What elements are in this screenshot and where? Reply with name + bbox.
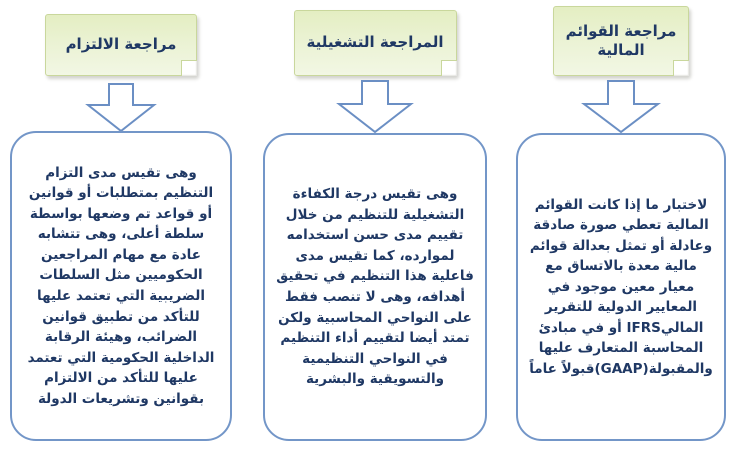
- standard-gaap-label: (GAAP): [594, 361, 648, 377]
- down-arrow-icon: [85, 83, 157, 133]
- arrow-wrap-operational: [257, 80, 493, 134]
- header-note-label-operational: المراجعة التشغيلية: [307, 33, 444, 52]
- standard-ifrs-label: IFRS: [626, 320, 660, 336]
- header-note-label-financial: مراجعة القوائم المالية: [564, 22, 678, 60]
- folded-corner-icon: [673, 60, 689, 76]
- header-note-financial[interactable]: مراجعة القوائم المالية: [553, 6, 689, 76]
- arrow-wrap-compliance: [2, 83, 240, 133]
- arrow-wrap-financial: [510, 80, 732, 134]
- body-box-operational: وهى تقيس درجة الكفاءة التشغيلية للتنظيم …: [263, 133, 487, 441]
- header-note-wrap-compliance: مراجعة الالتزام: [2, 14, 240, 76]
- column-compliance-audit: مراجعة الالتزام وهى تقيس مدى التزام التن…: [2, 0, 240, 449]
- body-box-compliance: وهى تقيس مدى التزام التنظيم بمتطلبات أو …: [10, 131, 232, 441]
- body-text-compliance: وهى تقيس مدى التزام التنظيم بمتطلبات أو …: [22, 163, 220, 409]
- body-text-financial-line1: لاختبار ما إذا كانت القوائم المالية تعطي…: [530, 197, 712, 336]
- body-text-financial-line3: قبولاً عاماً: [529, 361, 594, 377]
- body-box-financial: لاختبار ما إذا كانت القوائم المالية تعطي…: [516, 133, 726, 441]
- column-operational-audit: المراجعة التشغيلية وهى تقيس درجة الكفاءة…: [257, 0, 493, 449]
- header-note-operational[interactable]: المراجعة التشغيلية: [294, 10, 457, 76]
- header-note-label-compliance: مراجعة الالتزام: [66, 35, 177, 54]
- column-financial-statements-audit: مراجعة القوائم المالية لاختبار ما إذا كا…: [510, 0, 732, 449]
- body-text-operational: وهى تقيس درجة الكفاءة التشغيلية للتنظيم …: [275, 184, 475, 389]
- down-arrow-icon: [581, 80, 661, 134]
- header-note-compliance[interactable]: مراجعة الالتزام: [45, 14, 197, 76]
- header-note-wrap-financial: مراجعة القوائم المالية: [510, 6, 732, 76]
- diagram-canvas: مراجعة الالتزام وهى تقيس مدى التزام التن…: [0, 0, 750, 449]
- folded-corner-icon: [441, 60, 457, 76]
- folded-corner-icon: [181, 60, 197, 76]
- header-note-wrap-operational: المراجعة التشغيلية: [257, 10, 493, 76]
- body-text-financial: لاختبار ما إذا كانت القوائم المالية تعطي…: [528, 195, 714, 380]
- down-arrow-icon: [336, 80, 414, 134]
